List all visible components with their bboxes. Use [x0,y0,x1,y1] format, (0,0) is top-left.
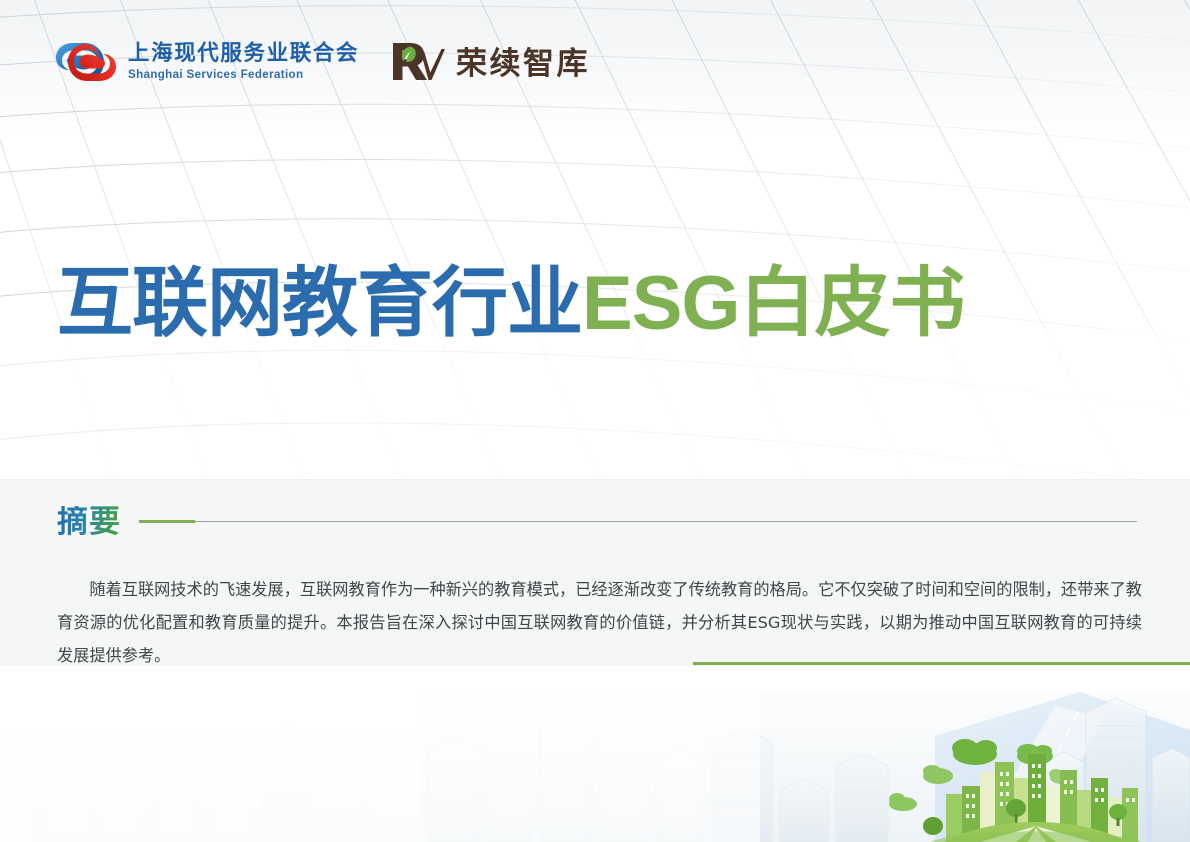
logo-ssf-name-en: Shanghai Services Federation [128,69,359,81]
abstract-rule-green [139,520,195,523]
double-loop-logo-icon [55,38,117,86]
cover-title-part-secondary: ESG白皮书 [582,261,965,346]
header-logo-bar: 上海现代服务业联合会 Shanghai Services Federation … [55,34,590,90]
green-accent-rule [693,662,1190,665]
rx-leaf-logo-icon [390,39,446,85]
logo-ssf-name-cn: 上海现代服务业联合会 [128,43,359,65]
logo-rx-name-cn: 荣续智库 [456,48,590,79]
abstract-heading-row: 摘要 [57,506,1137,537]
abstract-heading: 摘要 [57,506,121,537]
bottom-isometric-city-illustration [0,666,1190,842]
report-cover-page: 上海现代服务业联合会 Shanghai Services Federation … [0,0,1190,842]
logo-shanghai-services-federation: 上海现代服务业联合会 Shanghai Services Federation [55,34,359,90]
abstract-rule-grey [195,521,1137,522]
logo-ssf-text-block: 上海现代服务业联合会 Shanghai Services Federation [128,43,359,81]
logo-rongxu-think-tank: 荣续智库 [390,34,590,90]
abstract-body-text: 随着互联网技术的飞速发展，互联网教育作为一种新兴的教育模式，已经逐渐改变了传统教… [57,573,1142,672]
abstract-section: 摘要 随着互联网技术的飞速发展，互联网教育作为一种新兴的教育模式，已经逐渐改变了… [0,479,1190,666]
cover-title-part-primary: 互联网教育行业 [57,261,582,346]
cover-title: 互联网教育行业ESG白皮书 [57,264,965,344]
